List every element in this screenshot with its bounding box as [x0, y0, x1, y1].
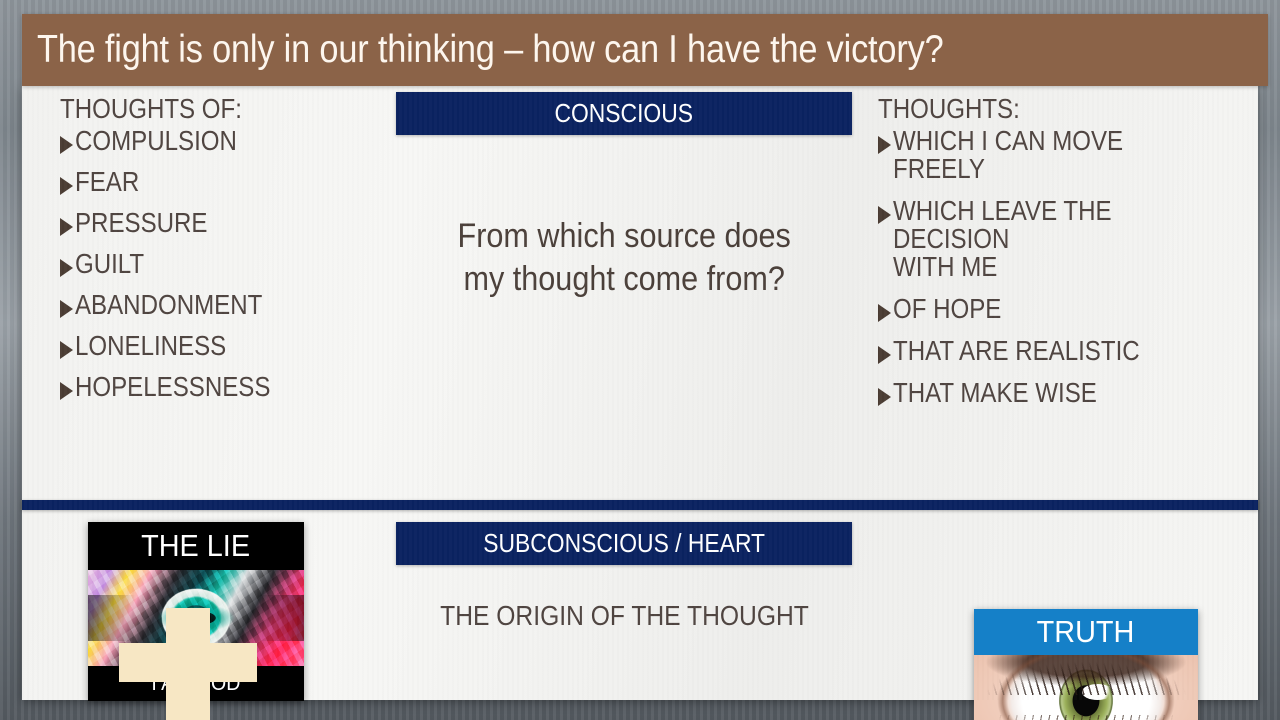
slide-title-bar: The fight is only in our thinking – how …: [22, 14, 1268, 86]
list-item-label: COMPULSION: [75, 127, 237, 155]
slide-backdrop: The fight is only in our thinking – how …: [0, 0, 1280, 720]
card-truth: TRUTH CREATURE OF GOD: [974, 609, 1198, 720]
center-question-label: From which source does my thought come f…: [457, 215, 790, 302]
list-item: LONELINESS: [60, 332, 405, 360]
subconscious-banner-label: SUBCONSCIOUS / HEART: [483, 522, 765, 565]
list-item: PRESSURE: [60, 209, 405, 237]
bottom-center-column: SUBCONSCIOUS / HEART THE ORIGIN OF THE T…: [396, 522, 852, 632]
list-item-label: THAT MAKE WISE: [893, 379, 1097, 407]
list-item-label: THAT ARE REALISTIC: [893, 337, 1140, 365]
lower-eyelashes-graphic: [992, 715, 1180, 720]
list-item: HOPELESSNESS: [60, 373, 405, 401]
triangle-bullet-icon: [878, 346, 891, 364]
triangle-bullet-icon: [878, 388, 891, 406]
triangle-bullet-icon: [878, 304, 891, 322]
triangle-bullet-icon: [60, 300, 73, 318]
list-item-label: WHICH I CAN MOVE FREELY: [893, 127, 1209, 183]
subconscious-banner: SUBCONSCIOUS / HEART: [396, 522, 852, 565]
list-item-label: PRESSURE: [75, 209, 207, 237]
card-truth-header-label: TRUTH: [1037, 609, 1135, 655]
left-column: THOUGHTS OF: COMPULSION FEAR PRESSURE GU…: [60, 94, 405, 414]
triangle-bullet-icon: [878, 136, 891, 154]
list-item-label: HOPELESSNESS: [75, 373, 270, 401]
triangle-bullet-icon: [60, 341, 73, 359]
page-title: The fight is only in our thinking – how …: [22, 28, 943, 72]
list-item: GUILT: [60, 250, 405, 278]
card-the-lie-header: THE LIE: [88, 522, 304, 570]
list-item: FEAR: [60, 168, 405, 196]
right-column: THOUGHTS: WHICH I CAN MOVE FREELY WHICH …: [878, 94, 1260, 421]
triangle-bullet-icon: [60, 218, 73, 236]
green-eye-image: [974, 655, 1198, 720]
slide-body: THOUGHTS OF: COMPULSION FEAR PRESSURE GU…: [22, 86, 1258, 700]
left-column-heading: THOUGHTS OF:: [60, 94, 357, 123]
triangle-bullet-icon: [60, 259, 73, 277]
list-item: THAT ARE REALISTIC: [878, 337, 1260, 365]
list-item-label: LONELINESS: [75, 332, 226, 360]
center-column: CONSCIOUS From which source does my thou…: [396, 92, 852, 302]
list-item: COMPULSION: [60, 127, 405, 155]
list-item: WHICH I CAN MOVE FREELY: [878, 127, 1260, 183]
list-item: WHICH LEAVE THE DECISION WITH ME: [878, 197, 1260, 281]
left-column-bullets: COMPULSION FEAR PRESSURE GUILT ABANDONME…: [60, 127, 405, 401]
list-item-label: FEAR: [75, 168, 139, 196]
list-item-label: GUILT: [75, 250, 144, 278]
list-item-label: ABANDONMENT: [75, 291, 262, 319]
origin-caption-label: THE ORIGIN OF THE THOUGHT: [440, 600, 809, 632]
cross-icon: [166, 608, 210, 720]
card-truth-header: TRUTH: [974, 609, 1198, 655]
triangle-bullet-icon: [60, 177, 73, 195]
triangle-bullet-icon: [878, 206, 891, 224]
list-item: THAT MAKE WISE: [878, 379, 1260, 407]
list-item-label: WHICH LEAVE THE DECISION WITH ME: [893, 197, 1209, 281]
list-item-label: OF HOPE: [893, 295, 1001, 323]
card-the-lie-header-label: THE LIE: [142, 522, 251, 570]
conscious-banner-label: CONSCIOUS: [555, 92, 694, 135]
right-column-heading: THOUGHTS:: [878, 94, 1207, 123]
upper-eyelashes-graphic: [974, 655, 1198, 695]
triangle-bullet-icon: [60, 136, 73, 154]
origin-caption: THE ORIGIN OF THE THOUGHT: [396, 600, 852, 632]
conscious-banner: CONSCIOUS: [396, 92, 852, 135]
right-column-bullets: WHICH I CAN MOVE FREELY WHICH LEAVE THE …: [878, 127, 1260, 407]
section-divider: [22, 500, 1258, 510]
list-item: ABANDONMENT: [60, 291, 405, 319]
list-item: OF HOPE: [878, 295, 1260, 323]
center-question: From which source does my thought come f…: [396, 171, 852, 302]
triangle-bullet-icon: [60, 382, 73, 400]
